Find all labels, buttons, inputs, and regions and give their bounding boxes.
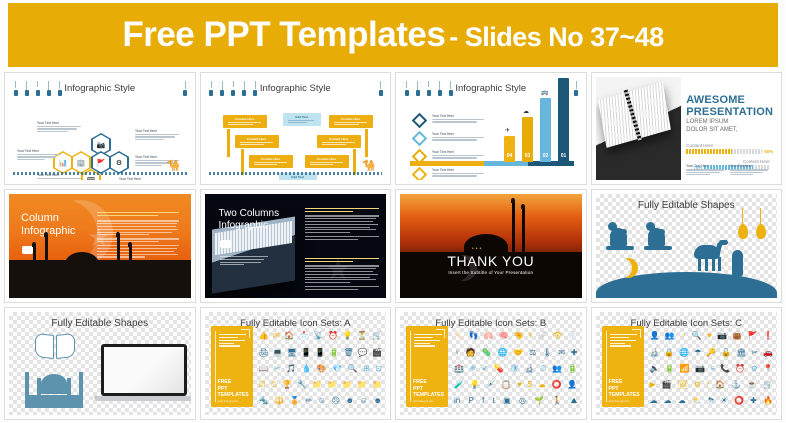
cart-icon[interactable]: 🛒	[372, 331, 382, 340]
medical-icon[interactable]: ⚕	[528, 331, 532, 340]
icon-row-4: 🧪💡 💉📋 ♥$ ☁⭕ 👤	[454, 380, 578, 389]
slide-card-10[interactable]: Fully Editable Icon Sets: A FREEPPTTEMPL…	[200, 307, 392, 420]
hexagon-2: 🏢	[71, 151, 91, 174]
trash-icon[interactable]: 🗑	[344, 348, 354, 357]
crescent-shape	[612, 258, 632, 278]
two-columns-title: Two Columns Infographic	[219, 208, 280, 232]
templates-preview-page: Free PPT Templates - Slides No 37~48 Inf…	[0, 0, 786, 423]
bag-icon[interactable]: 👜	[732, 331, 742, 340]
facebook-icon[interactable]: f	[482, 396, 484, 405]
icon-row-2: 🔬🔒 🌐☂ 🔑🔓 🏛✂ 🚗	[650, 348, 774, 357]
search-icon[interactable]: 🔍	[348, 364, 358, 373]
pin-icon[interactable]: 📍	[763, 364, 773, 373]
cart-icon[interactable]: 🛒	[763, 380, 773, 389]
folder-icon[interactable]: 📁	[327, 380, 337, 389]
two-columns-main-text-bottom	[305, 256, 379, 292]
column-title: Column Infographic	[21, 212, 75, 238]
legend-text-4-label: Your Text Here	[432, 168, 484, 172]
icon-row-4: ☑⏱ 🏆🔧 📁📁 📁📁 📁	[259, 380, 383, 389]
card-stripe-decor	[606, 331, 607, 402]
slide-card-5[interactable]: ★ Column Infographic	[4, 189, 196, 302]
battery-icon[interactable]: 🔋	[567, 364, 577, 373]
syringe-icon[interactable]: 💉	[486, 380, 496, 389]
phone-icon[interactable]: 📞	[720, 364, 730, 373]
camera-icon[interactable]: 📷	[695, 364, 705, 373]
smiley-filled-icon[interactable]: ☻	[346, 396, 354, 405]
slide-card-12[interactable]: Fully Editable Icon Sets: C FREEPPTTEMPL…	[591, 307, 783, 420]
search-icon[interactable]: 🔍	[692, 331, 702, 340]
cloud-icon[interactable]: ☁	[678, 396, 686, 405]
legend-diamond-2	[412, 131, 428, 147]
column-title-line-2: Infographic	[21, 225, 75, 238]
plus-icon[interactable]: ✚	[571, 348, 578, 357]
awesome-line-1: AWESOME	[686, 94, 773, 106]
bar-01: 01	[558, 78, 569, 162]
banner-title-sub: - Slides No 37~48	[449, 22, 663, 52]
candle-icon[interactable]: 🕯	[707, 380, 709, 389]
slide-8-title: Fully Editable Shapes	[596, 200, 778, 211]
text-block-left-label: Your Text Here	[17, 149, 61, 153]
open-book-shape	[35, 334, 75, 360]
legend-text-3-label: Your Text Here	[432, 150, 484, 154]
car-icon[interactable]: 🚗	[763, 348, 773, 357]
two-columns-main-text-top	[305, 206, 379, 242]
slide-card-2[interactable]: Infographic Style Add Text Content Here	[200, 72, 392, 185]
decorative-rug-border	[209, 172, 383, 175]
legend-text-2: Your Text Here	[432, 132, 484, 142]
text-block-top: Your Text Here	[37, 121, 81, 133]
standing-figure-shape	[732, 250, 743, 276]
progress-1-label: Content Here	[686, 143, 713, 148]
camera-icon[interactable]: 📷	[717, 331, 727, 340]
phone-icon[interactable]: 📱	[315, 348, 325, 357]
plant-icon[interactable]: 🌱	[534, 396, 544, 405]
footer-text-2: Your Text Here	[730, 164, 768, 176]
laptop-screen	[101, 344, 187, 396]
slide-10-canvas: Fully Editable Icon Sets: A FREEPPTTEMPL…	[205, 312, 387, 415]
flow-accent-bottom-label: Add Text	[282, 175, 314, 179]
partly-cloudy-icon[interactable]: ⛅	[692, 396, 702, 405]
slide-card-9[interactable]: Fully Editable Shapes	[4, 307, 196, 420]
card-text-lines	[414, 333, 444, 349]
mountain-icon[interactable]: ⛰	[571, 396, 578, 405]
smiley-icon[interactable]: ☺	[318, 396, 326, 405]
slide-4-canvas: AWESOME PRESENTATION LOREM IPSUM DOLOR S…	[596, 77, 778, 180]
plus-icon[interactable]: ✚	[750, 396, 757, 405]
image-icon[interactable]: 🖼	[678, 380, 688, 389]
lorem-line-1: LOREM IPSUM	[686, 118, 737, 126]
bulb-icon[interactable]: 💡	[343, 331, 353, 340]
coffee-icon[interactable]: ☕	[747, 380, 757, 389]
walking-icon[interactable]: 🚶	[552, 396, 562, 405]
cloud-icon[interactable]: ☁	[650, 396, 658, 405]
speaker-icon[interactable]: 🔈	[650, 364, 660, 373]
hexagon-5: ⚙	[109, 151, 129, 174]
legend-text-1-label: Your Text Here	[432, 114, 484, 118]
text-block-bottom-right: Your Text Here	[119, 177, 163, 180]
bar-03: 03	[522, 117, 533, 162]
progress-1-fill	[686, 149, 731, 154]
home-icon[interactable]: 🏠	[715, 380, 725, 389]
minaret	[117, 236, 120, 276]
anchor-icon[interactable]: ⚓	[731, 380, 741, 389]
minaret	[33, 246, 36, 276]
praying-figure-1	[606, 220, 634, 250]
praying-figure-2	[644, 220, 672, 250]
mosque-outline-shape	[23, 364, 85, 408]
card-brand-label: FREEPPTTEMPLATES	[609, 379, 640, 398]
brain-icon[interactable]: 🧠	[499, 331, 509, 340]
awesome-heading: AWESOME PRESENTATION	[686, 94, 773, 118]
slide-7-canvas: ••• THANK YOU Insert the Subtitle of You…	[400, 194, 582, 297]
mosque-dome-small	[95, 263, 115, 276]
column-title-line-1: Column	[21, 212, 75, 225]
clipboard-icon[interactable]: 📋	[501, 380, 511, 389]
minaret	[522, 208, 525, 260]
palette-icon[interactable]: 🎨	[317, 364, 327, 373]
book-icon[interactable]: 📖	[259, 364, 269, 373]
umbrella-icon[interactable]: ☂	[694, 348, 701, 357]
bolt-icon[interactable]: 🔩	[259, 396, 269, 405]
slide-card-3[interactable]: Infographic Style Your Text Here	[395, 72, 587, 185]
virus-icon[interactable]: 🦠	[482, 348, 492, 357]
flow-box-3: Content Here	[235, 135, 279, 148]
icon-grid: 🦴👣 🫁🧠 🤏⚕ 🩹👁 🦷 ♀🧑 🦠🌐 🤝⚖ 🌡✉ ✚	[454, 328, 578, 409]
quote-bubble-icon	[22, 246, 33, 254]
battery-icon[interactable]: 🔋	[665, 364, 675, 373]
bar-04-icon: ✈	[505, 127, 510, 134]
mosque-dome	[65, 252, 99, 276]
chat-icon[interactable]: 💬	[358, 348, 368, 357]
camel-shape	[688, 242, 730, 272]
card-brand-label: FREEPPTTEMPLATES	[218, 379, 249, 398]
free-ppt-card: FREEPPTTEMPLATES www.free-ppt.com	[602, 326, 644, 407]
footer-text-2-label: Your Text Here	[730, 164, 768, 168]
storm-icon[interactable]: ⛈	[708, 396, 714, 405]
awesome-line-2: PRESENTATION	[686, 106, 773, 118]
user-icon[interactable]: 👤	[567, 380, 577, 389]
legend-diamond-1	[412, 113, 428, 129]
globe-icon[interactable]: 🌐	[679, 348, 689, 357]
progress-2-label: Content Here	[743, 159, 770, 164]
microscope-icon[interactable]: 🔬	[525, 364, 535, 373]
person-icon[interactable]: 🧑	[466, 348, 476, 357]
alert-icon[interactable]: ❗	[763, 331, 773, 340]
flow-connector	[241, 149, 244, 175]
icon-row-1: 👤👥 ♂🔍 ♥📷 👜🚩 ❗	[650, 331, 774, 340]
lock-icon[interactable]: 🔒	[664, 348, 674, 357]
slide-card-6[interactable]: ★ Two Columns Infographic	[200, 189, 392, 302]
card-text-lines	[219, 333, 249, 349]
unlock-icon[interactable]: 🔓	[721, 348, 731, 357]
flag-icon[interactable]: 🚩	[748, 331, 758, 340]
pencil-icon[interactable]: ✏	[305, 396, 312, 405]
slide-8-canvas: Fully Editable Shapes ★	[596, 194, 778, 297]
video-icon[interactable]: 🎬	[662, 380, 672, 389]
handshake-icon[interactable]: 🤝	[513, 348, 523, 357]
camel-icon: 🐪	[362, 161, 380, 172]
mosque-dome-small	[49, 263, 69, 276]
footer-text-1-label: Your Text Here	[686, 164, 724, 168]
cloud-icon[interactable]: ☁	[538, 380, 546, 389]
bandage-icon[interactable]: 🩹	[538, 331, 548, 340]
tablet-icon[interactable]: 📱	[301, 348, 311, 357]
slide-card-11[interactable]: Fully Editable Icon Sets: B FREEPPTTEMPL…	[395, 307, 587, 420]
two-columns-title-line-2: Infographic	[219, 220, 280, 232]
mail-icon[interactable]: ✉	[558, 348, 565, 357]
flow-connector	[353, 149, 356, 175]
bar-03-icon: ☁	[523, 108, 529, 115]
minaret	[45, 236, 48, 276]
flow-box-4: Content Here	[317, 135, 361, 148]
lorem-line-2: DOLOR SIT AMET,	[686, 126, 737, 134]
banner-title: Free PPT Templates - Slides No 37~48	[122, 15, 663, 55]
mosque-lights: •••	[472, 246, 483, 252]
decorative-rug-border	[13, 172, 187, 175]
tooth-icon[interactable]: 🦷	[567, 331, 577, 340]
medal-icon[interactable]: 🏅	[290, 396, 300, 405]
thank-you-title: THANK YOU	[400, 253, 582, 269]
quote-bubble-icon	[220, 240, 231, 248]
wrench-icon[interactable]: 🔧	[297, 380, 307, 389]
footer-text-1: Your Text Here	[686, 164, 724, 176]
pinterest-icon[interactable]: P	[469, 396, 474, 405]
smiley-filled-icon[interactable]: ☻	[373, 396, 381, 405]
signal-icon[interactable]: 📶	[680, 364, 690, 373]
card-stripe-decor	[215, 331, 216, 402]
star-shape: ★	[630, 264, 638, 275]
frowny-icon[interactable]: ☹	[332, 396, 340, 405]
icon-row-2: ♀🧑 🦠🌐 🤝⚖ 🌡✉ ✚	[454, 348, 578, 357]
circle-icon[interactable]: ⭕	[734, 396, 744, 405]
progress-1-value: 60%	[764, 149, 773, 154]
globe-icon[interactable]: 🌐	[498, 348, 508, 357]
droplet-icon[interactable]: 💧	[301, 364, 311, 373]
scissors-icon[interactable]: ✂	[274, 364, 281, 373]
twitter-icon[interactable]: t	[493, 396, 495, 405]
square-icon[interactable]: ⊡	[375, 364, 382, 373]
column-main-text	[97, 210, 179, 266]
slide-12-canvas: Fully Editable Icon Sets: C FREEPPTTEMPL…	[596, 312, 778, 415]
icon-row-1: 🦴👣 🫁🧠 🤏⚕ 🩹👁 🦷	[454, 331, 578, 340]
user-icon[interactable]: 👤	[650, 331, 660, 340]
bar-02: 02	[540, 98, 551, 162]
laptop-mockup-shape	[101, 344, 187, 401]
bone-icon[interactable]: 🦴	[454, 331, 464, 340]
flow-accent-top-label: Add Text	[286, 115, 318, 119]
bank-icon[interactable]: 🏛	[736, 348, 746, 357]
hourglass-icon[interactable]: ⏳	[357, 331, 367, 340]
microscope-icon[interactable]: 🔬	[650, 348, 660, 357]
mail-icon[interactable]: ✉	[273, 331, 280, 340]
legend-text-1: Your Text Here	[432, 114, 484, 124]
trophy-icon[interactable]: 🏆	[282, 380, 292, 389]
bar-02-icon: 🚌	[541, 89, 548, 96]
scales-icon[interactable]: ⚖	[529, 348, 536, 357]
slide-11-canvas: Fully Editable Icon Sets: B FREEPPTTEMPL…	[400, 312, 582, 415]
flow-box-5: Content Here	[249, 155, 293, 168]
timer-icon[interactable]: ⏱	[540, 364, 546, 373]
text-block-right: Your Text Here	[135, 129, 179, 141]
two-columns-side-text	[220, 254, 268, 267]
icon-grid: 👤👥 ♂🔍 ♥📷 👜🚩 ❗ 🔬🔒 🌐☂ 🔑🔓 🏛✂ 🚗	[650, 328, 774, 409]
dollar-icon[interactable]: $	[528, 380, 532, 389]
inbox-icon[interactable]: 📩	[299, 331, 309, 340]
free-ppt-card: FREEPPTTEMPLATES www.free-ppt.com	[406, 326, 448, 407]
icon-row-5: ☁☁ ☁⛅ ⛈☀ ⭕✚ 🔥	[650, 396, 774, 405]
slide-6-canvas: ★ Two Columns Infographic	[205, 194, 387, 297]
card-url-label: www.free-ppt.com	[413, 400, 434, 403]
monitor-icon[interactable]: 🖥	[287, 348, 297, 357]
flow-box-4-label: Content Here	[320, 137, 358, 141]
pill-icon[interactable]: 💊	[494, 364, 504, 373]
clock-icon[interactable]: ⏰	[735, 364, 745, 373]
camel-icon: 🐪	[167, 161, 185, 172]
icon-row-3: 📖✂ 🎵💧 🎨💎 🔍⊞ ⊡	[259, 364, 383, 373]
legend-text-3: Your Text Here	[432, 150, 484, 160]
slide-2-canvas: Infographic Style Add Text Content Here	[205, 77, 387, 180]
clock-icon[interactable]: ⏰	[328, 331, 338, 340]
snowflake-icon[interactable]: ❄	[469, 364, 476, 373]
hospital-icon[interactable]: 🏥	[454, 364, 464, 373]
hand-icon[interactable]: 🤏	[513, 331, 523, 340]
window-icon[interactable]: ▣	[503, 396, 511, 405]
flow-box-2-label: Content Here	[332, 117, 370, 121]
free-ppt-card: FREEPPTTEMPLATES www.free-ppt.com	[211, 326, 253, 407]
slide-card-8[interactable]: Fully Editable Shapes ★	[591, 189, 783, 302]
legend-text-2-label: Your Text Here	[432, 132, 484, 136]
laptop-base	[94, 396, 191, 401]
legend-diamond-4	[412, 167, 428, 181]
folder-icon[interactable]: 📁	[357, 380, 367, 389]
battery-icon[interactable]: 🔋	[329, 348, 339, 357]
target-icon[interactable]: ◎	[519, 396, 526, 405]
heart-icon[interactable]: ♥	[707, 331, 712, 340]
menu-icon[interactable]: ≡	[710, 364, 715, 373]
timer-icon[interactable]: ⏱	[271, 380, 277, 389]
flow-box-6-label: Content Here	[308, 157, 346, 161]
flask-icon[interactable]: 🧪	[454, 380, 464, 389]
bar-04: 04	[504, 136, 515, 162]
footprint-icon[interactable]: 👣	[469, 331, 479, 340]
slide-3-canvas: Infographic Style Your Text Here	[400, 77, 582, 180]
banner-title-main: Free PPT Templates	[122, 15, 445, 54]
lorem-subtitle: LOREM IPSUM DOLOR SIT AMET,	[686, 118, 737, 134]
eye-icon[interactable]: 👁	[552, 331, 562, 340]
flow-box-3-label: Content Here	[238, 137, 276, 141]
check-icon[interactable]: ✔	[482, 364, 489, 373]
thermometer-icon[interactable]: 🌡	[542, 348, 552, 357]
film-icon[interactable]: 🎬	[372, 348, 382, 357]
flow-box-accent-top: Add Text	[283, 113, 321, 126]
icon-row-1: 👍✉ 🏠📩 📡⏰ 💡⏳ 🛒	[259, 331, 383, 340]
text-block-left: Your Text Here	[17, 149, 61, 161]
chart-baseline	[410, 161, 574, 166]
text-block-top-label: Your Text Here	[37, 121, 81, 125]
heart-icon[interactable]: ♥	[517, 380, 522, 389]
gear-icon[interactable]: ⚙	[694, 380, 701, 389]
female-icon[interactable]: ♀	[454, 348, 460, 357]
slide-card-1[interactable]: Infographic Style 📷 🏢 📊 🚩 ⚙ 🗓	[4, 72, 196, 185]
flow-box-5-label: Content Here	[252, 157, 290, 161]
text-block-right-label: Your Text Here	[135, 129, 179, 133]
slide-1-canvas: Infographic Style 📷 🏢 📊 🚩 ⚙ 🗓	[9, 77, 191, 180]
shield-icon[interactable]: 🛡	[509, 364, 519, 373]
icon-row-5: inP ft ▣◎ 🌱🚶 ⛰	[454, 396, 578, 405]
folder-icon[interactable]: 📁	[372, 380, 382, 389]
fire-icon[interactable]: 🔥	[763, 396, 773, 405]
users-icon[interactable]: 👥	[665, 331, 675, 340]
trident-icon[interactable]: 🔱	[274, 396, 284, 405]
printer-icon[interactable]: 🖨	[259, 348, 269, 357]
two-columns-title-line-1: Two Columns	[219, 208, 280, 220]
play-icon[interactable]: ▶	[650, 380, 656, 389]
laptop-icon[interactable]: 💻	[273, 348, 283, 357]
card-url-label: www.free-ppt.com	[218, 400, 239, 403]
slide-card-4[interactable]: AWESOME PRESENTATION LOREM IPSUM DOLOR S…	[591, 72, 783, 185]
sun-icon[interactable]: ☀	[721, 396, 728, 405]
smiley-icon[interactable]: ☺	[360, 396, 368, 405]
male-icon[interactable]: ♂	[680, 331, 686, 340]
slide-card-7[interactable]: ••• THANK YOU Insert the Subtitle of You…	[395, 189, 587, 302]
text-block-right2-label: Your Text Here	[135, 155, 179, 159]
card-stripe-decor	[410, 331, 411, 402]
folder-icon[interactable]: 📁	[312, 380, 322, 389]
icon-row-3: 🏥❄ ✔💊 🛡🔬 ⏱👥 🔋	[454, 364, 578, 373]
music-icon[interactable]: 🎵	[286, 364, 296, 373]
users-icon[interactable]: 👥	[552, 364, 562, 373]
circle-icon[interactable]: ⭕	[552, 380, 562, 389]
lungs-icon[interactable]: 🫁	[484, 331, 494, 340]
card-url-label: www.free-ppt.com	[609, 400, 630, 403]
bulb-icon[interactable]: 💡	[470, 380, 480, 389]
scissors-icon[interactable]: ✂	[751, 348, 758, 357]
slide-grid: Infographic Style 📷 🏢 📊 🚩 ⚙ 🗓	[4, 72, 782, 420]
linkedin-icon[interactable]: in	[454, 396, 460, 405]
icon-grid: 👍✉ 🏠📩 📡⏰ 💡⏳ 🛒 🖨💻 🖥📱 📱🔋 🗑💬 🎬	[259, 328, 383, 409]
home-icon[interactable]: 🏠	[284, 331, 294, 340]
slide-9-title: Fully Editable Shapes	[9, 318, 191, 329]
icon-row-2: 🖨💻 🖥📱 📱🔋 🗑💬 🎬	[259, 348, 383, 357]
folder-icon[interactable]: 📁	[342, 380, 352, 389]
minaret	[129, 246, 132, 276]
thank-you-subtitle: Insert the Subtitle of Your Presentation	[400, 270, 582, 275]
checkbox-icon[interactable]: ☑	[259, 380, 266, 389]
signal-icon[interactable]: 📡	[314, 331, 324, 340]
header-banner: Free PPT Templates - Slides No 37~48	[8, 3, 778, 67]
text-block-br-label: Your Text Here	[119, 177, 163, 180]
card-brand-label: FREEPPTTEMPLATES	[413, 379, 444, 398]
slide-5-canvas: ★ Column Infographic	[9, 194, 191, 297]
gear-icon[interactable]: ⚙	[751, 364, 758, 373]
flow-connector	[227, 129, 230, 157]
slide-9-canvas: Fully Editable Shapes	[9, 312, 191, 415]
grid-icon[interactable]: ⊞	[363, 364, 370, 373]
key-icon[interactable]: 🔑	[706, 348, 716, 357]
legend-text-4: Your Text Here	[432, 168, 484, 178]
book-photo	[596, 77, 681, 180]
flow-box-1: Content Here	[223, 115, 267, 128]
card-text-lines	[610, 333, 640, 349]
flow-box-2: Content Here	[329, 115, 373, 128]
minaret	[512, 202, 515, 260]
diamond-icon[interactable]: 💎	[332, 364, 342, 373]
flow-box-6: Content Here	[305, 155, 349, 168]
cloud-icon[interactable]: ☁	[664, 396, 672, 405]
flow-box-1-label: Content Here	[226, 117, 264, 121]
icon-row-3: 🔈🔋 📶📷 ≡📞 ⏰⚙ 📍	[650, 364, 774, 373]
thumbs-up-icon[interactable]: 👍	[259, 331, 269, 340]
